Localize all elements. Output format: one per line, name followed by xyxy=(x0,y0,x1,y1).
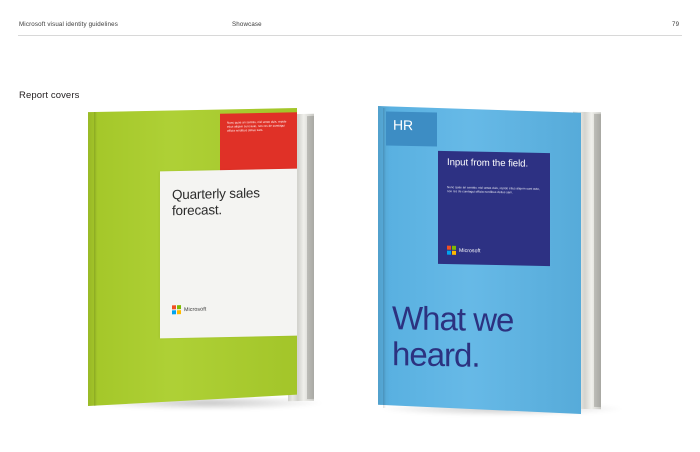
blue-report-cover: HR Input from the field. Nunc quae an se… xyxy=(378,106,628,416)
blue-book-headline: What we heard. xyxy=(392,300,587,376)
header-page-number: 79 xyxy=(672,21,679,28)
header-section-label: Showcase xyxy=(232,21,262,28)
page-title: Report covers xyxy=(19,90,79,101)
microsoft-wordmark: Microsoft xyxy=(184,306,206,312)
blue-book-page-edge xyxy=(594,114,601,407)
green-book-page-edge xyxy=(307,116,314,399)
microsoft-logo: Microsoft xyxy=(172,305,206,315)
microsoft-wordmark: Microsoft xyxy=(459,247,481,253)
blue-book-spine-crease xyxy=(383,108,386,408)
blue-book-department-label: HR xyxy=(393,118,413,132)
microsoft-logo: Microsoft xyxy=(447,246,481,256)
microsoft-squares-icon xyxy=(447,246,456,255)
page-header: Microsoft visual identity guidelines Sho… xyxy=(0,0,700,36)
microsoft-squares-icon xyxy=(172,305,181,314)
header-divider xyxy=(18,35,682,36)
blue-book-panel-title: Input from the field. xyxy=(447,157,547,170)
green-book-accent-text: Nunc quae an sentitiv, nisl untas duis, … xyxy=(227,120,289,133)
header-document-title: Microsoft visual identity guidelines xyxy=(19,21,118,28)
green-book-headline: Quarterly sales forecast. xyxy=(172,185,292,220)
green-book-spine-crease xyxy=(94,112,97,406)
green-report-cover: Nunc quae an sentitiv, nisl untas duis, … xyxy=(88,108,328,408)
